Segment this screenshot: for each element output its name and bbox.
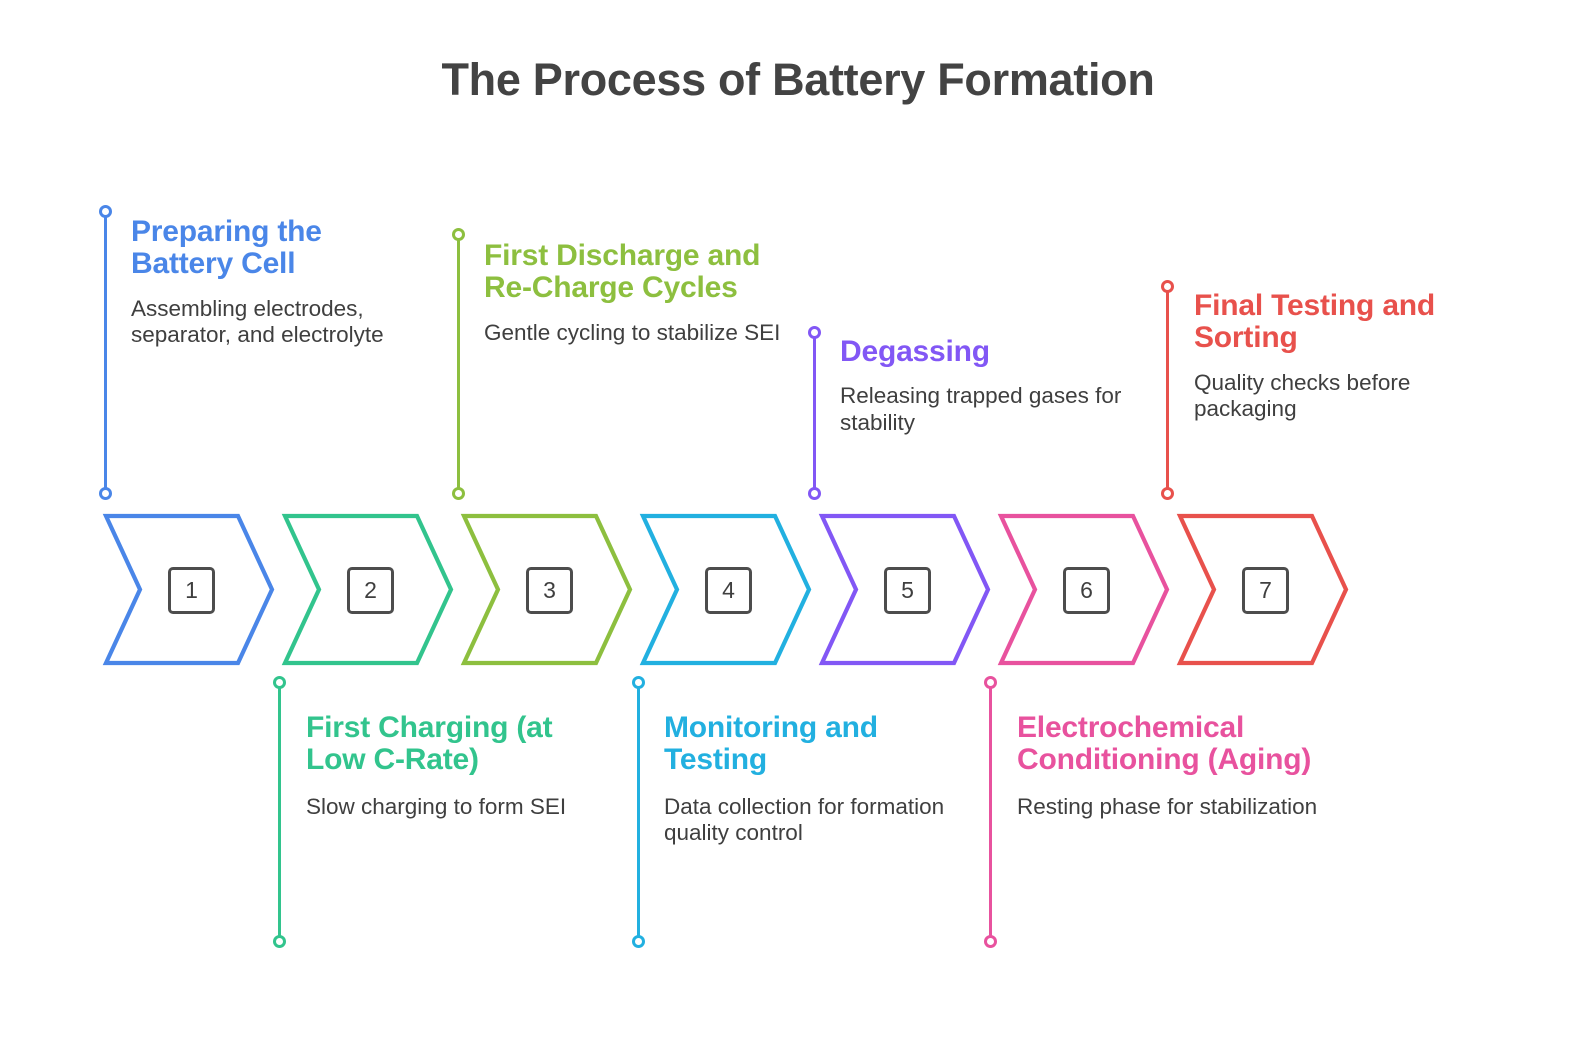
page-title: The Process of Battery Formation [0,54,1596,106]
connector-step-6 [984,676,997,948]
connector-step-4 [632,676,645,948]
connector-endpoint-bottom [808,487,821,500]
step-number: 7 [1259,577,1272,604]
connector-endpoint-top [808,326,821,339]
connector-line [104,211,107,494]
step-block-2: First Charging (at Low C-Rate) Slow char… [306,712,591,820]
step-description: Data collection for formation quality co… [664,794,964,847]
step-block-5: Degassing Releasing trapped gases for st… [840,336,1130,436]
step-number: 6 [1080,577,1093,604]
step-number-box: 1 [168,567,215,614]
connector-endpoint-bottom [632,935,645,948]
step-block-6: Electrochemical Conditioning (Aging) Res… [1017,712,1337,820]
step-number: 1 [185,577,198,604]
connector-endpoint-top [1161,280,1174,293]
step-number-box: 2 [347,567,394,614]
connector-line [989,682,992,942]
connector-step-2 [273,676,286,948]
step-description: Slow charging to form SEI [306,794,591,821]
step-heading: Final Testing and Sorting [1194,290,1474,355]
chevron-arrow-sequence: 1 2 3 4 [100,512,1350,667]
step-number: 3 [543,577,556,604]
chevron-step-7[interactable]: 7 [1174,512,1352,667]
connector-endpoint-bottom [984,935,997,948]
step-heading: Preparing the Battery Cell [131,216,421,281]
connector-line [457,234,460,494]
chevron-step-4[interactable]: 4 [637,512,815,667]
connector-endpoint-bottom [273,935,286,948]
step-number: 2 [364,577,377,604]
connector-endpoint-top [452,228,465,241]
step-heading: First Discharge and Re-Charge Cycles [484,240,784,305]
step-number-box: 4 [705,567,752,614]
step-number-box: 6 [1063,567,1110,614]
chevron-step-5[interactable]: 5 [816,512,994,667]
step-description: Quality checks before packaging [1194,370,1474,423]
step-block-1: Preparing the Battery Cell Assembling el… [131,216,421,349]
step-number-box: 7 [1242,567,1289,614]
chevron-step-3[interactable]: 3 [458,512,636,667]
infographic-canvas: The Process of Battery Formation [0,0,1596,1040]
connector-endpoint-bottom [452,487,465,500]
step-heading: Degassing [840,336,1130,368]
step-number: 4 [722,577,735,604]
connector-step-5 [808,326,821,500]
connector-step-3 [452,228,465,500]
connector-endpoint-bottom [1161,487,1174,500]
step-number-box: 5 [884,567,931,614]
chevron-step-1[interactable]: 1 [100,512,278,667]
connector-endpoint-top [99,205,112,218]
step-heading: Electrochemical Conditioning (Aging) [1017,712,1337,777]
step-number-box: 3 [526,567,573,614]
connector-line [637,682,640,942]
connector-line [1166,286,1169,494]
connector-endpoint-top [632,676,645,689]
connector-endpoint-top [273,676,286,689]
step-block-7: Final Testing and Sorting Quality checks… [1194,290,1474,423]
chevron-step-2[interactable]: 2 [279,512,457,667]
step-block-3: First Discharge and Re-Charge Cycles Gen… [484,240,784,346]
chevron-step-6[interactable]: 6 [995,512,1173,667]
step-description: Resting phase for stabilization [1017,794,1337,821]
connector-endpoint-bottom [99,487,112,500]
step-heading: Monitoring and Testing [664,712,964,777]
step-heading: First Charging (at Low C-Rate) [306,712,591,777]
step-description: Gentle cycling to stabilize SEI [484,320,784,347]
step-description: Releasing trapped gases for stability [840,383,1130,436]
connector-step-1 [99,205,112,500]
step-block-4: Monitoring and Testing Data collection f… [664,712,964,847]
connector-endpoint-top [984,676,997,689]
connector-line [813,332,816,494]
step-number: 5 [901,577,914,604]
step-description: Assembling electrodes, separator, and el… [131,296,421,349]
connector-line [278,682,281,942]
connector-step-7 [1161,280,1174,500]
